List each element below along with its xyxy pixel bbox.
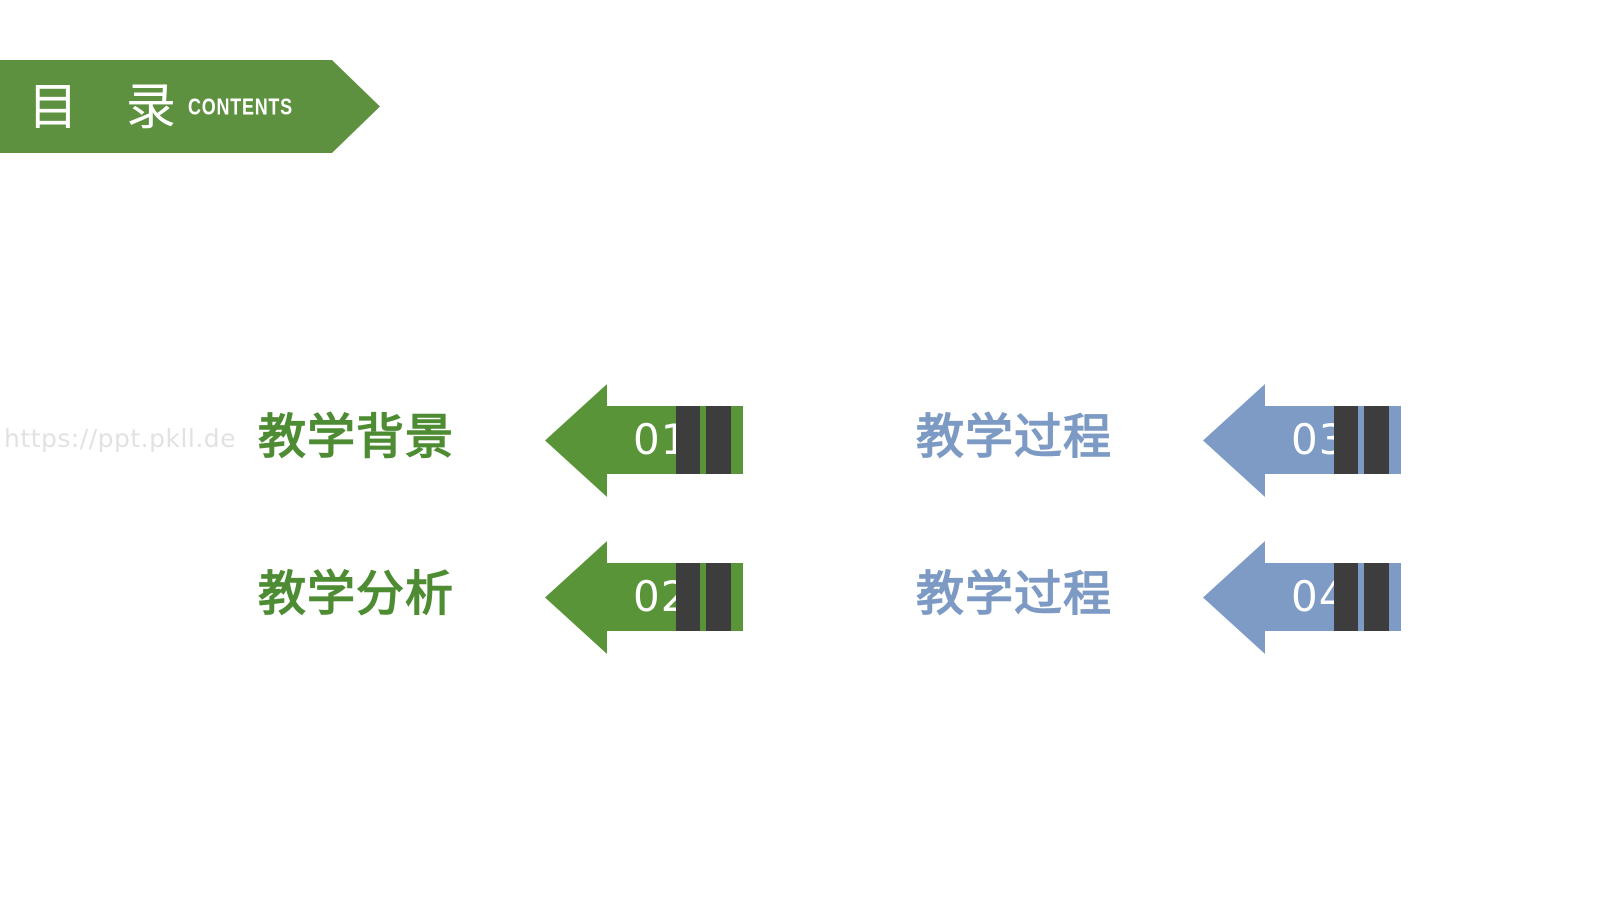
arrow-01: 01 bbox=[545, 377, 743, 497]
arrow-band-b-01 bbox=[706, 406, 731, 474]
banner-chinese-title: 目 录 bbox=[28, 82, 192, 132]
contents-entry-04[interactable]: 教学过程 04 bbox=[838, 534, 1403, 654]
arrow-04: 04 bbox=[1203, 534, 1401, 654]
banner-english-title: CONTENTS bbox=[188, 93, 293, 120]
arrow-shaft-01: 01 bbox=[603, 406, 743, 474]
arrow-band-b-03 bbox=[1364, 406, 1389, 474]
entry-label-04: 教学过程 bbox=[916, 570, 1112, 618]
arrow-head-icon-03 bbox=[1203, 384, 1265, 497]
arrow-03: 03 bbox=[1203, 377, 1401, 497]
arrow-band-a-03 bbox=[1334, 406, 1358, 474]
arrow-band-a-02 bbox=[676, 563, 700, 631]
contents-entry-02[interactable]: 教学分析 02 bbox=[180, 534, 745, 654]
entry-label-01: 教学背景 bbox=[258, 413, 454, 461]
arrow-shaft-02: 02 bbox=[603, 563, 743, 631]
contents-title-banner: 目 录 CONTENTS bbox=[0, 60, 380, 153]
arrow-band-b-02 bbox=[706, 563, 731, 631]
arrow-band-a-04 bbox=[1334, 563, 1358, 631]
arrow-shaft-03: 03 bbox=[1261, 406, 1401, 474]
arrow-band-a-01 bbox=[676, 406, 700, 474]
entry-label-02: 教学分析 bbox=[258, 570, 454, 618]
arrow-band-b-04 bbox=[1364, 563, 1389, 631]
arrow-shaft-04: 04 bbox=[1261, 563, 1401, 631]
arrow-head-icon-02 bbox=[545, 541, 607, 654]
arrow-head-icon-04 bbox=[1203, 541, 1265, 654]
arrow-head-icon-01 bbox=[545, 384, 607, 497]
contents-entry-01[interactable]: 教学背景 01 bbox=[180, 377, 745, 497]
entry-label-03: 教学过程 bbox=[916, 413, 1112, 461]
contents-entry-03[interactable]: 教学过程 03 bbox=[838, 377, 1403, 497]
arrow-02: 02 bbox=[545, 534, 743, 654]
